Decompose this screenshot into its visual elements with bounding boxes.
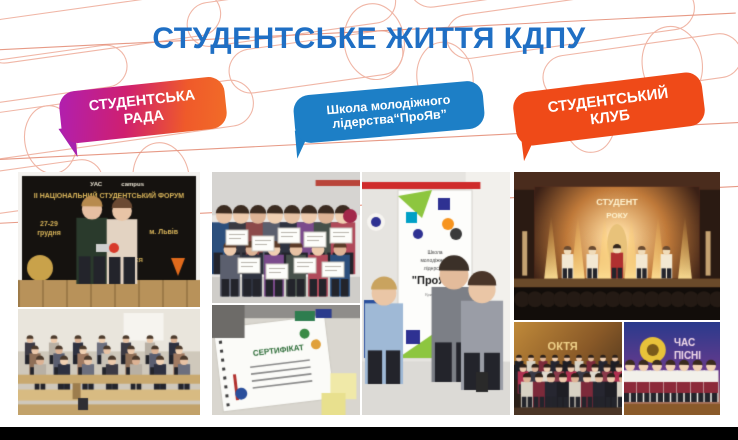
proyav-school-bubble[interactable]: Школа молодіжного лідерства“ПроЯв” <box>292 80 485 144</box>
photo-certificates-group[interactable] <box>212 172 360 303</box>
student-council-bubble-label: СТУДЕНТСЬКА РАДА <box>88 88 198 132</box>
student-club-bubble[interactable]: СТУДЕНТСЬКИЙ КЛУБ <box>511 71 706 148</box>
bottom-letterbox-bar <box>0 427 738 440</box>
slide-title: СТУДЕНТСЬКЕ ЖИТТЯ КДПУ <box>0 22 738 56</box>
photo-lecture-hall[interactable] <box>18 309 200 415</box>
photo-certificate-desk[interactable] <box>212 305 360 415</box>
photo-dancers-stage[interactable] <box>624 322 720 415</box>
photo-forum-banner[interactable] <box>18 172 200 307</box>
photo-student-of-year-stage[interactable] <box>514 172 720 320</box>
photo-group-stage[interactable] <box>514 322 622 415</box>
proyav-school-bubble-label: Школа молодіжного лідерства“ПроЯв” <box>326 92 452 131</box>
student-council-bubble[interactable]: СТУДЕНТСЬКА РАДА <box>58 75 229 144</box>
photo-proyav-rollup[interactable] <box>362 172 510 415</box>
presentation-slide: СТУДЕНТСЬКЕ ЖИТТЯ КДПУ СТУДЕНТСЬКА РАДА … <box>0 0 738 427</box>
student-club-bubble-label: СТУДЕНТСЬКИЙ КЛУБ <box>547 84 672 133</box>
